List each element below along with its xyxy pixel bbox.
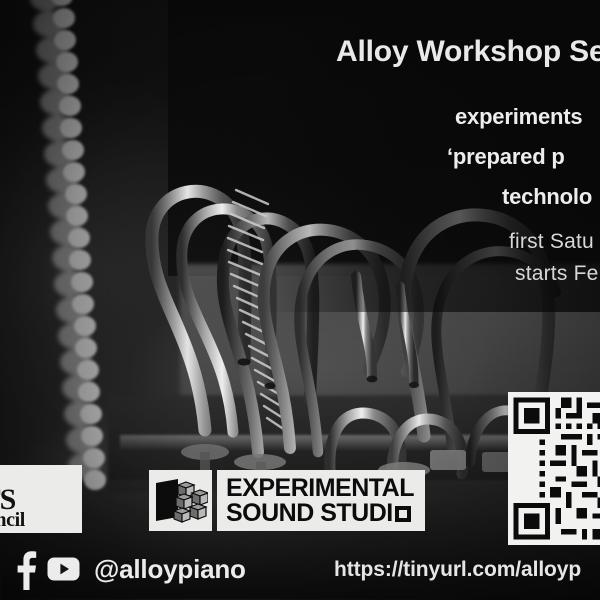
signup-url[interactable]: https://tinyurl.com/alloyp bbox=[334, 558, 581, 582]
iac-line-3: Council bbox=[0, 509, 25, 532]
ess-square-o-icon bbox=[395, 506, 411, 522]
ess-line-1: EXPERIMENTAL bbox=[226, 476, 414, 501]
facebook-icon[interactable] bbox=[14, 550, 38, 590]
social-handle[interactable]: @alloypiano bbox=[94, 554, 246, 585]
schedule-line-1: first Satu bbox=[509, 230, 594, 254]
poster-canvas: Alloy Workshop Se experiments ‘prepared … bbox=[0, 0, 600, 600]
ess-line-2: SOUND STUDI bbox=[226, 501, 393, 526]
schedule-line-2: starts Fe bbox=[515, 262, 598, 286]
ess-wordmark: EXPERIMENTAL SOUND STUDI bbox=[217, 470, 425, 531]
ess-line-2-row: SOUND STUDI bbox=[226, 501, 414, 526]
body-line-1: experiments bbox=[455, 104, 582, 130]
body-line-3: technolo bbox=[502, 184, 592, 210]
qr-code[interactable] bbox=[508, 392, 600, 545]
youtube-icon[interactable] bbox=[47, 557, 80, 581]
cube-grid-mark bbox=[154, 477, 208, 525]
body-line-2: ‘prepared p bbox=[447, 144, 565, 170]
experimental-sound-studio-logo: EXPERIMENTAL SOUND STUDI bbox=[149, 470, 425, 531]
ess-cube-grid-icon bbox=[149, 470, 212, 531]
page-title: Alloy Workshop Se bbox=[336, 35, 600, 69]
qr-code-image bbox=[508, 392, 600, 545]
illinois-arts-council-logo: nois RTS Council bbox=[0, 465, 82, 533]
